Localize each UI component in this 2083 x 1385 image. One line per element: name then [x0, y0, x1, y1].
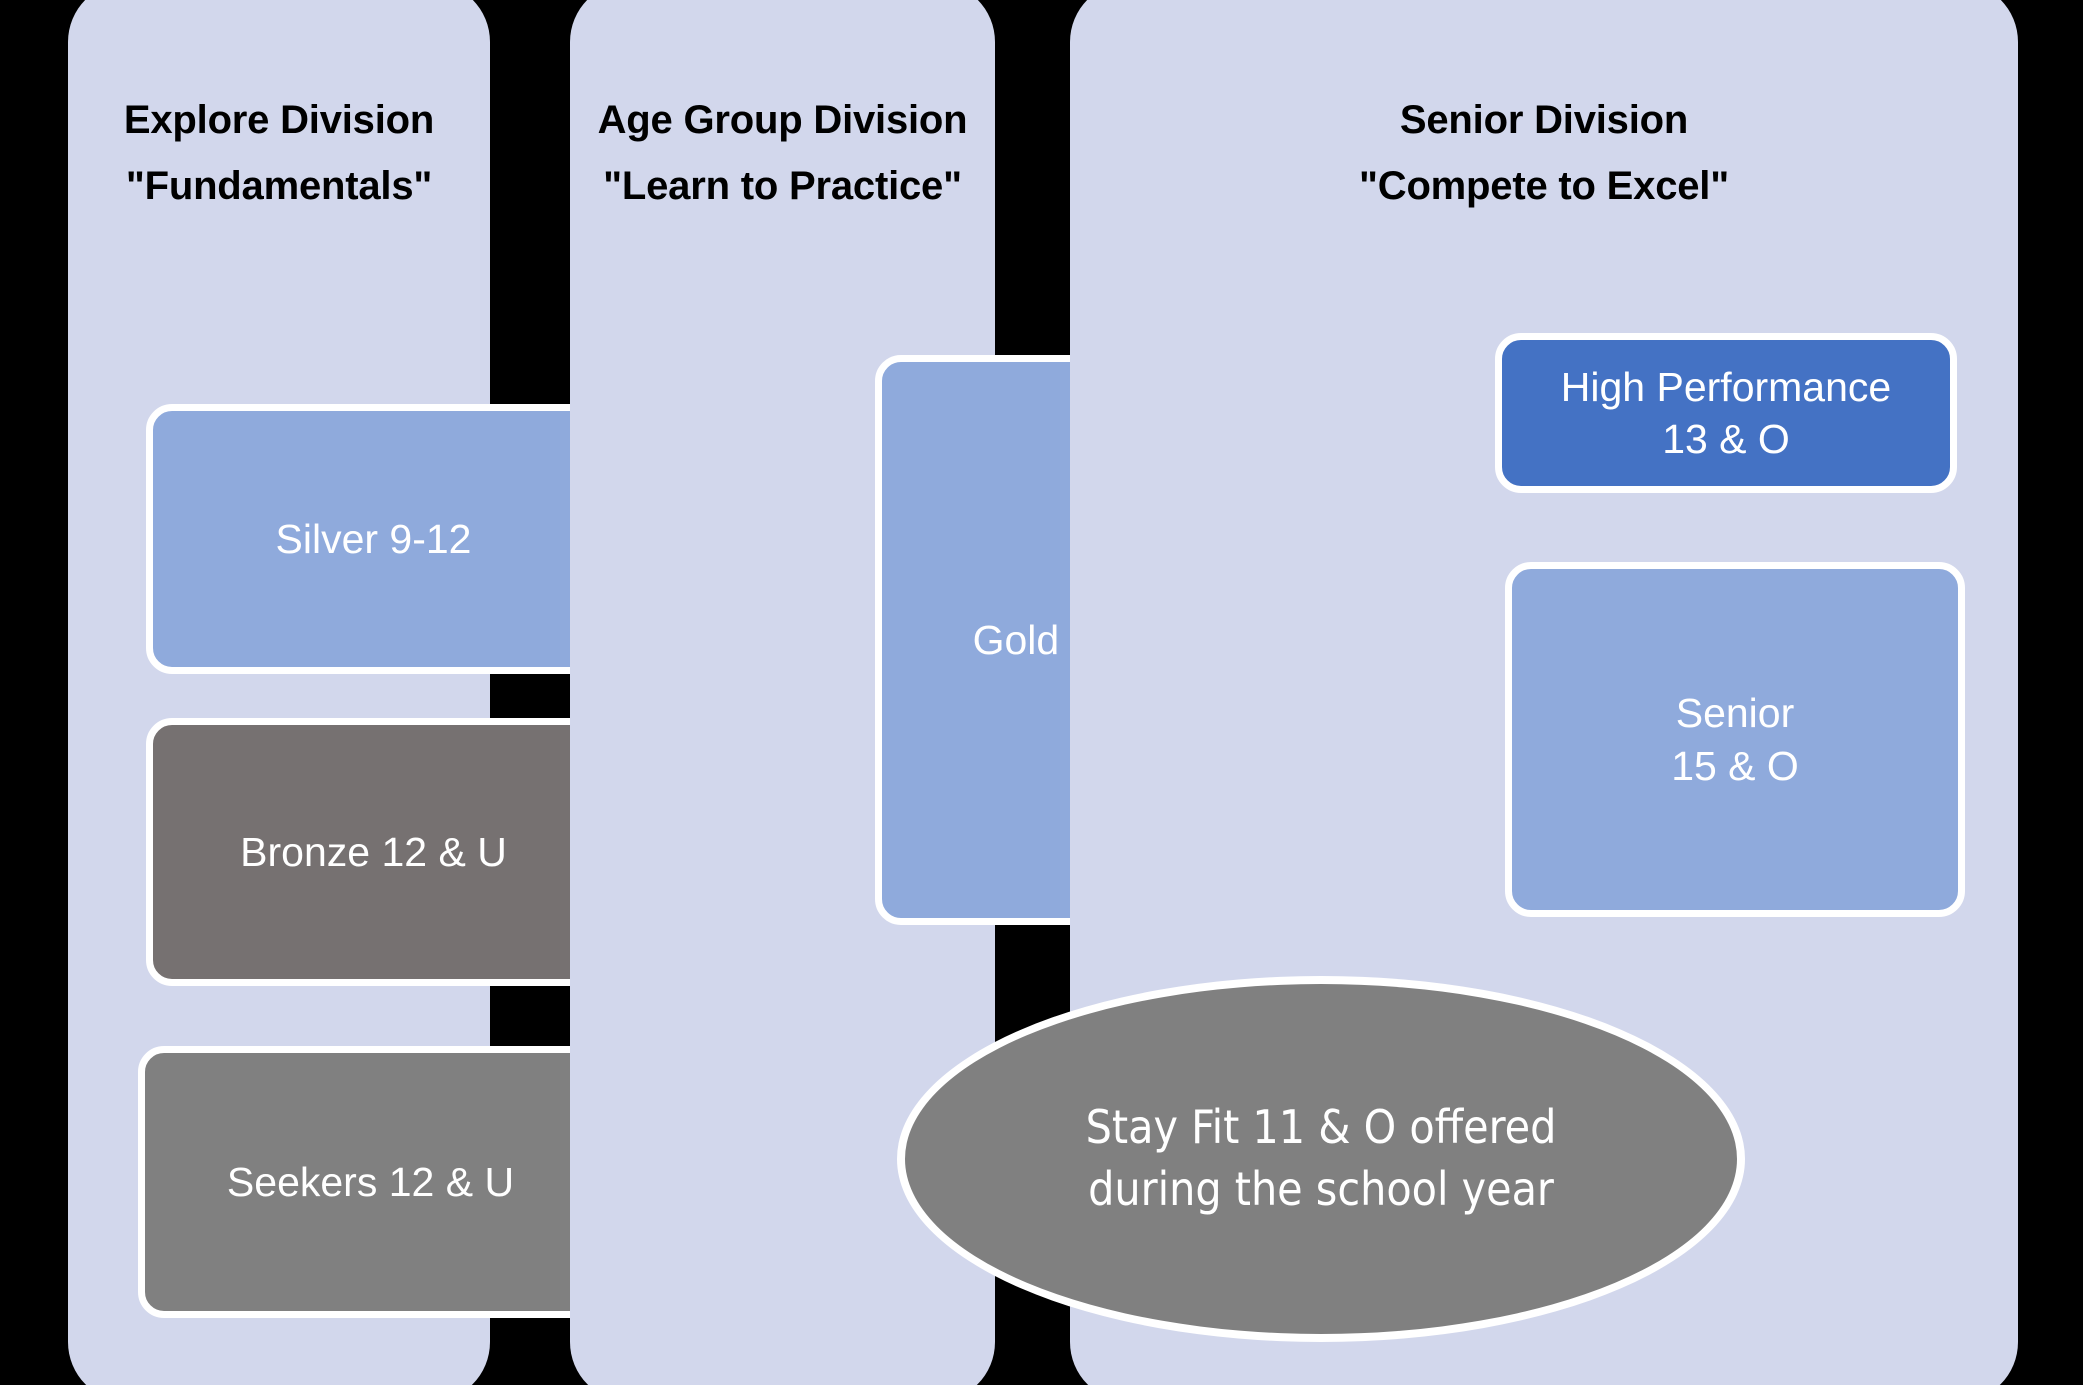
box-senior[interactable]: Senior 15 & O: [1505, 562, 1965, 917]
box-silver-label: Silver 9-12: [276, 513, 472, 565]
callout-line1: Stay Fit 11 & O offered: [1086, 1097, 1557, 1159]
agegroup-heading-line1: Age Group Division: [570, 100, 995, 166]
column-heading-explore-division: Explore Division "Fundamentals": [68, 100, 490, 206]
column-heading-age-group-division: Age Group Division "Learn to Practice": [570, 100, 995, 206]
box-high-performance-line1: High Performance: [1561, 361, 1891, 413]
box-silver[interactable]: Silver 9-12: [146, 404, 601, 674]
box-senior-line2: 15 & O: [1671, 740, 1799, 792]
callout-ellipse-stay-fit[interactable]: Stay Fit 11 & O offered during the schoo…: [897, 976, 1745, 1342]
box-senior-line1: Senior: [1671, 687, 1799, 739]
box-senior-label: Senior 15 & O: [1671, 687, 1799, 792]
column-heading-senior-division: Senior Division "Compete to Excel": [1070, 100, 2018, 206]
senior-heading-line1: Senior Division: [1070, 100, 2018, 166]
box-seekers[interactable]: Seekers 12 & U: [138, 1046, 603, 1318]
box-high-performance[interactable]: High Performance 13 & O: [1495, 333, 1957, 493]
senior-heading-line2: "Compete to Excel": [1070, 166, 2018, 206]
box-seekers-label: Seekers 12 & U: [227, 1156, 514, 1208]
box-bronze[interactable]: Bronze 12 & U: [146, 718, 601, 986]
agegroup-heading-line2: "Learn to Practice": [570, 166, 995, 206]
box-high-performance-line2: 13 & O: [1561, 413, 1891, 465]
diagram-canvas: Explore Division "Fundamentals" Silver 9…: [0, 0, 2083, 1385]
callout-ellipse-stay-fit-label: Stay Fit 11 & O offered during the schoo…: [1086, 1097, 1557, 1220]
box-high-performance-label: High Performance 13 & O: [1561, 361, 1891, 466]
explore-heading-line2: "Fundamentals": [68, 166, 490, 206]
callout-line2: during the school year: [1086, 1159, 1557, 1221]
box-bronze-label: Bronze 12 & U: [240, 826, 507, 878]
explore-heading-line1: Explore Division: [68, 100, 490, 166]
